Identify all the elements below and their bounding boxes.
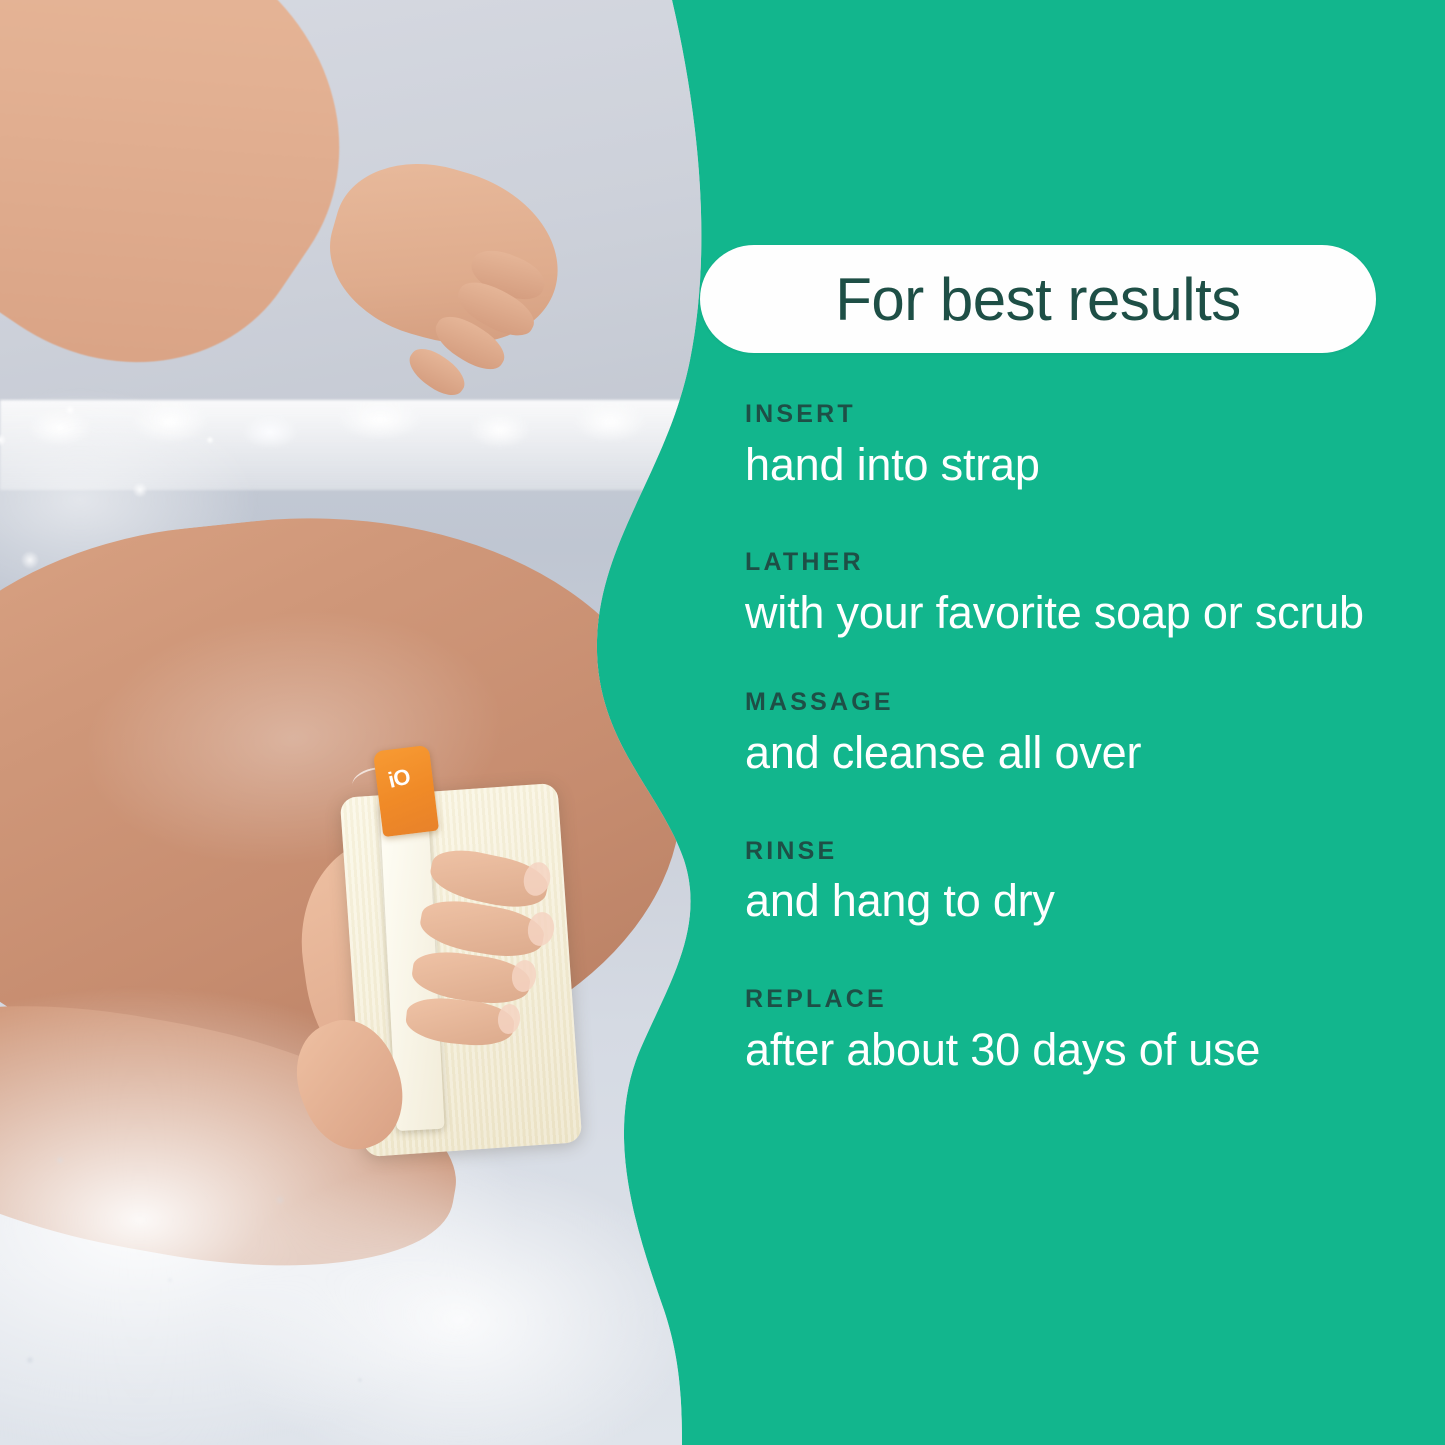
lifestyle-photo: iO <box>0 0 760 1445</box>
step-rinse: RINSE and hang to dry <box>745 837 1405 929</box>
step-text: hand into strap <box>745 438 1390 492</box>
steps-list: INSERT hand into strap LATHER with your … <box>745 400 1405 1077</box>
orange-hang-tag: iO <box>373 745 439 837</box>
step-label: MASSAGE <box>745 688 1405 717</box>
step-label: REPLACE <box>745 985 1405 1014</box>
step-text: and cleanse all over <box>745 726 1390 780</box>
title-pill: For best results <box>700 245 1376 353</box>
step-lather: LATHER with your favorite soap or scrub <box>745 548 1405 640</box>
brand-logo: iO <box>386 764 413 794</box>
step-text: after about 30 days of use <box>745 1023 1390 1077</box>
step-insert: INSERT hand into strap <box>745 400 1405 492</box>
step-label: INSERT <box>745 400 1405 429</box>
step-replace: REPLACE after about 30 days of use <box>745 985 1405 1077</box>
step-label: RINSE <box>745 837 1405 866</box>
step-text: and hang to dry <box>745 874 1390 928</box>
step-text: with your favorite soap or scrub <box>745 586 1390 640</box>
page-title: For best results <box>835 265 1240 334</box>
infographic-canvas: iO For best results INSERT hand into str… <box>0 0 1445 1445</box>
step-massage: MASSAGE and cleanse all over <box>745 688 1405 780</box>
step-label: LATHER <box>745 548 1405 577</box>
